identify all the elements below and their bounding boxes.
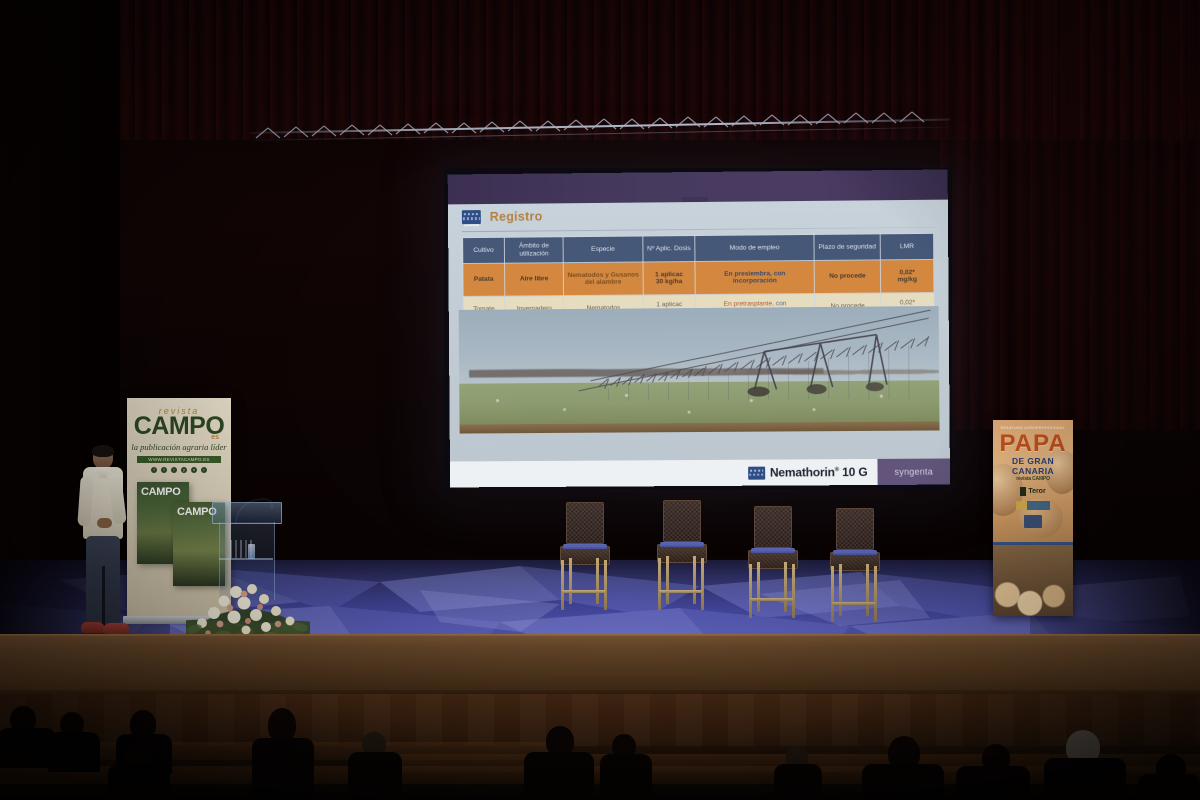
flower-blooms-icon [186, 583, 310, 639]
stool-footrail [832, 602, 875, 605]
rss-icon: r [201, 467, 207, 473]
modo-line-1: En pretrasplante, [724, 300, 774, 307]
th-plazo: Plazo de seguridad [814, 234, 880, 261]
stool-backrest [754, 506, 792, 548]
banner-papa-gran-canaria: DESAYUNO AGROPROFESIONAL PAPA DE GRAN CA… [993, 420, 1073, 616]
audience-vignette [0, 694, 1200, 800]
sponsor-gobierno-canarias-icon [1016, 501, 1050, 510]
stool-seat [748, 550, 798, 569]
stool-leg [757, 562, 760, 612]
banner-subtitle: DE GRAN CANARIA [993, 456, 1073, 476]
nemathorin-lockup: Nemathorin® 10 G [748, 465, 868, 480]
lmr-line-2: mg/kg [897, 276, 917, 283]
audience-area [0, 694, 1200, 800]
stool-leg [604, 560, 607, 610]
banner-url: WWW.REVISTACAMPO.ES [137, 456, 221, 463]
stool-leg [831, 566, 834, 622]
bar-stool [826, 508, 882, 616]
th-especie: Especie [563, 236, 642, 263]
slide-brand-footer: Nemathorin® 10 G syngenta [450, 458, 950, 487]
nemathorin-wordmark: Nemathorin® 10 G [770, 465, 868, 480]
stool-backrest [663, 500, 701, 542]
linkedin-icon: n [191, 467, 197, 473]
cell-cultivo: Patata [463, 263, 505, 296]
slide-header: Registro [462, 209, 543, 224]
magazine-cover-title: CAMPO [141, 486, 180, 498]
presentation-slide: Registro Cultivo Ámbito de utilización E… [448, 169, 950, 487]
conference-stage-photo: Registro Cultivo Ámbito de utilización E… [0, 0, 1200, 800]
presenter-shoe-left [81, 622, 105, 633]
registered-mark: ® [835, 467, 839, 473]
youtube-icon: y [181, 467, 187, 473]
sponsor-teror: Teror [1020, 487, 1045, 496]
truss-lattice-icon [250, 118, 950, 144]
stool-leg [839, 564, 842, 616]
th-ambito: Ámbito de utilización [504, 237, 563, 263]
cell-lmr: 0,02* mg/kg [880, 259, 933, 293]
slide-field-photo [459, 306, 940, 433]
stool-footrail [659, 590, 702, 593]
aplicacion-line-1: 1 aplicac [656, 301, 682, 308]
modo-line-2: incorporación [733, 277, 777, 284]
banner-social-row: f t i y n r [127, 467, 231, 473]
th-lmr: LMR [880, 233, 933, 260]
stool-leg [693, 556, 696, 604]
aplicacion-line-2: 30 kg/ha [656, 278, 682, 285]
presenter-hair [92, 445, 114, 457]
presenter-hands [97, 518, 112, 528]
slide-title: Registro [490, 209, 543, 223]
syngenta-logo: syngenta [877, 458, 950, 485]
lectern-shelf [219, 558, 273, 560]
presenter-leg-gap [102, 566, 105, 626]
banner-potato-pile [993, 545, 1073, 616]
stool-leg [569, 558, 572, 604]
syngenta-mark-icon [462, 210, 481, 224]
stool-footrail [750, 598, 793, 601]
magazine-cover-title: CAMPO [177, 506, 216, 518]
cell-especie: Nematodos y Gusanos del alambre [564, 262, 643, 296]
product-name: Nemathorin [770, 465, 835, 479]
stool-backrest [836, 508, 874, 550]
center-pivot-irrigation-icon [459, 306, 940, 433]
floral-arrangement [186, 583, 310, 639]
table-header-row: Cultivo Ámbito de utilización Especie Nº… [463, 233, 934, 263]
cell-modo: En presiembra, con incorporación [695, 260, 814, 294]
bar-stool [556, 502, 612, 610]
banner-tagline: la publicación agraria líder [127, 442, 231, 452]
stool-seat [830, 552, 880, 571]
lmr-line-1: 0,02* [899, 269, 915, 276]
stool-seat [560, 546, 610, 565]
lmr-line-1: 0,02* [900, 299, 916, 306]
table-row: Patata Aire libre Nematodos y Gusanos de… [463, 259, 934, 296]
projection-screen: Registro Cultivo Ámbito de utilización E… [444, 168, 952, 490]
banner-domain-suffix: es [211, 434, 219, 441]
stool-backrest [566, 502, 604, 544]
sponsor-teror-label: Teror [1028, 488, 1045, 495]
stool-leg [792, 564, 795, 618]
modo-line-1: En presiembra, con [724, 270, 785, 278]
product-formulation: 10 G [842, 465, 867, 479]
sponsor-revista-campo: revista CAMPO [1016, 476, 1050, 482]
th-cultivo: Cultivo [463, 237, 505, 263]
nemathorin-mark-icon [748, 466, 765, 479]
cell-ambito: Aire libre [504, 263, 563, 296]
stool-seat [657, 544, 707, 563]
slide-top-band [448, 169, 948, 204]
stool-leg [596, 558, 599, 604]
instagram-icon: i [171, 467, 177, 473]
bar-stool [653, 500, 709, 608]
stool-leg [874, 566, 877, 622]
stool-leg [784, 562, 787, 612]
banner-sponsor-logos: revista CAMPO Teror [1005, 476, 1061, 528]
sponsor-cabildo-icon [1024, 515, 1042, 528]
stool-leg [666, 556, 669, 604]
presenter-figure [73, 446, 135, 646]
stool-leg [701, 558, 704, 610]
presenter-shoe-right [103, 623, 129, 634]
stool-leg [561, 560, 564, 610]
facebook-icon: f [151, 467, 157, 473]
cell-plazo: No procede [814, 260, 881, 294]
stool-footrail [562, 590, 605, 593]
th-modo: Modo de empleo [695, 234, 814, 261]
bar-stool [744, 506, 800, 614]
stool-leg [866, 564, 869, 616]
teror-mark-icon [1020, 487, 1026, 496]
stool-leg [658, 558, 661, 610]
banner-title: PAPA [993, 432, 1073, 456]
lighting-truss [250, 118, 950, 144]
cell-aplicacion: 1 aplicac 30 kg/ha [643, 262, 696, 295]
modo-line-1b: con [776, 300, 787, 307]
lectern-items [228, 540, 262, 558]
stage-curtain-right [940, 0, 1200, 430]
water-bottle [248, 544, 255, 559]
twitter-icon: t [161, 467, 167, 473]
th-aplicacion: Nº Aplic. Dosis [642, 236, 695, 262]
lectern-top-panel [212, 502, 282, 524]
aplicacion-line-1: 1 aplicac [655, 271, 683, 278]
stool-leg [749, 564, 752, 618]
